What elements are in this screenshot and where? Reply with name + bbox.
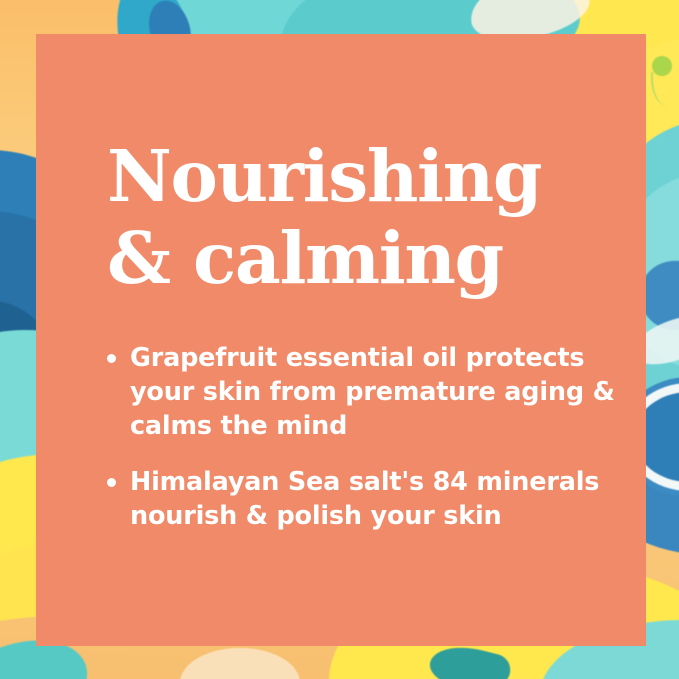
list-item: Grapefruit essential oil protects your s…: [107, 341, 617, 443]
coral-content-panel: Nourishing & calming Grapefruit essentia…: [36, 34, 646, 646]
bullet-dot-icon: [107, 354, 116, 363]
product-infographic-card: Nourishing & calming Grapefruit essentia…: [0, 0, 679, 679]
page-title: Nourishing & calming: [107, 135, 627, 299]
list-item-label: Grapefruit essential oil protects your s…: [130, 341, 617, 443]
list-item-label: Himalayan Sea salt's 84 minerals nourish…: [130, 465, 617, 533]
benefits-list: Grapefruit essential oil protects your s…: [107, 341, 617, 533]
list-item: Himalayan Sea salt's 84 minerals nourish…: [107, 465, 617, 533]
bullet-dot-icon: [107, 478, 116, 487]
green-dot-icon: [652, 56, 672, 76]
